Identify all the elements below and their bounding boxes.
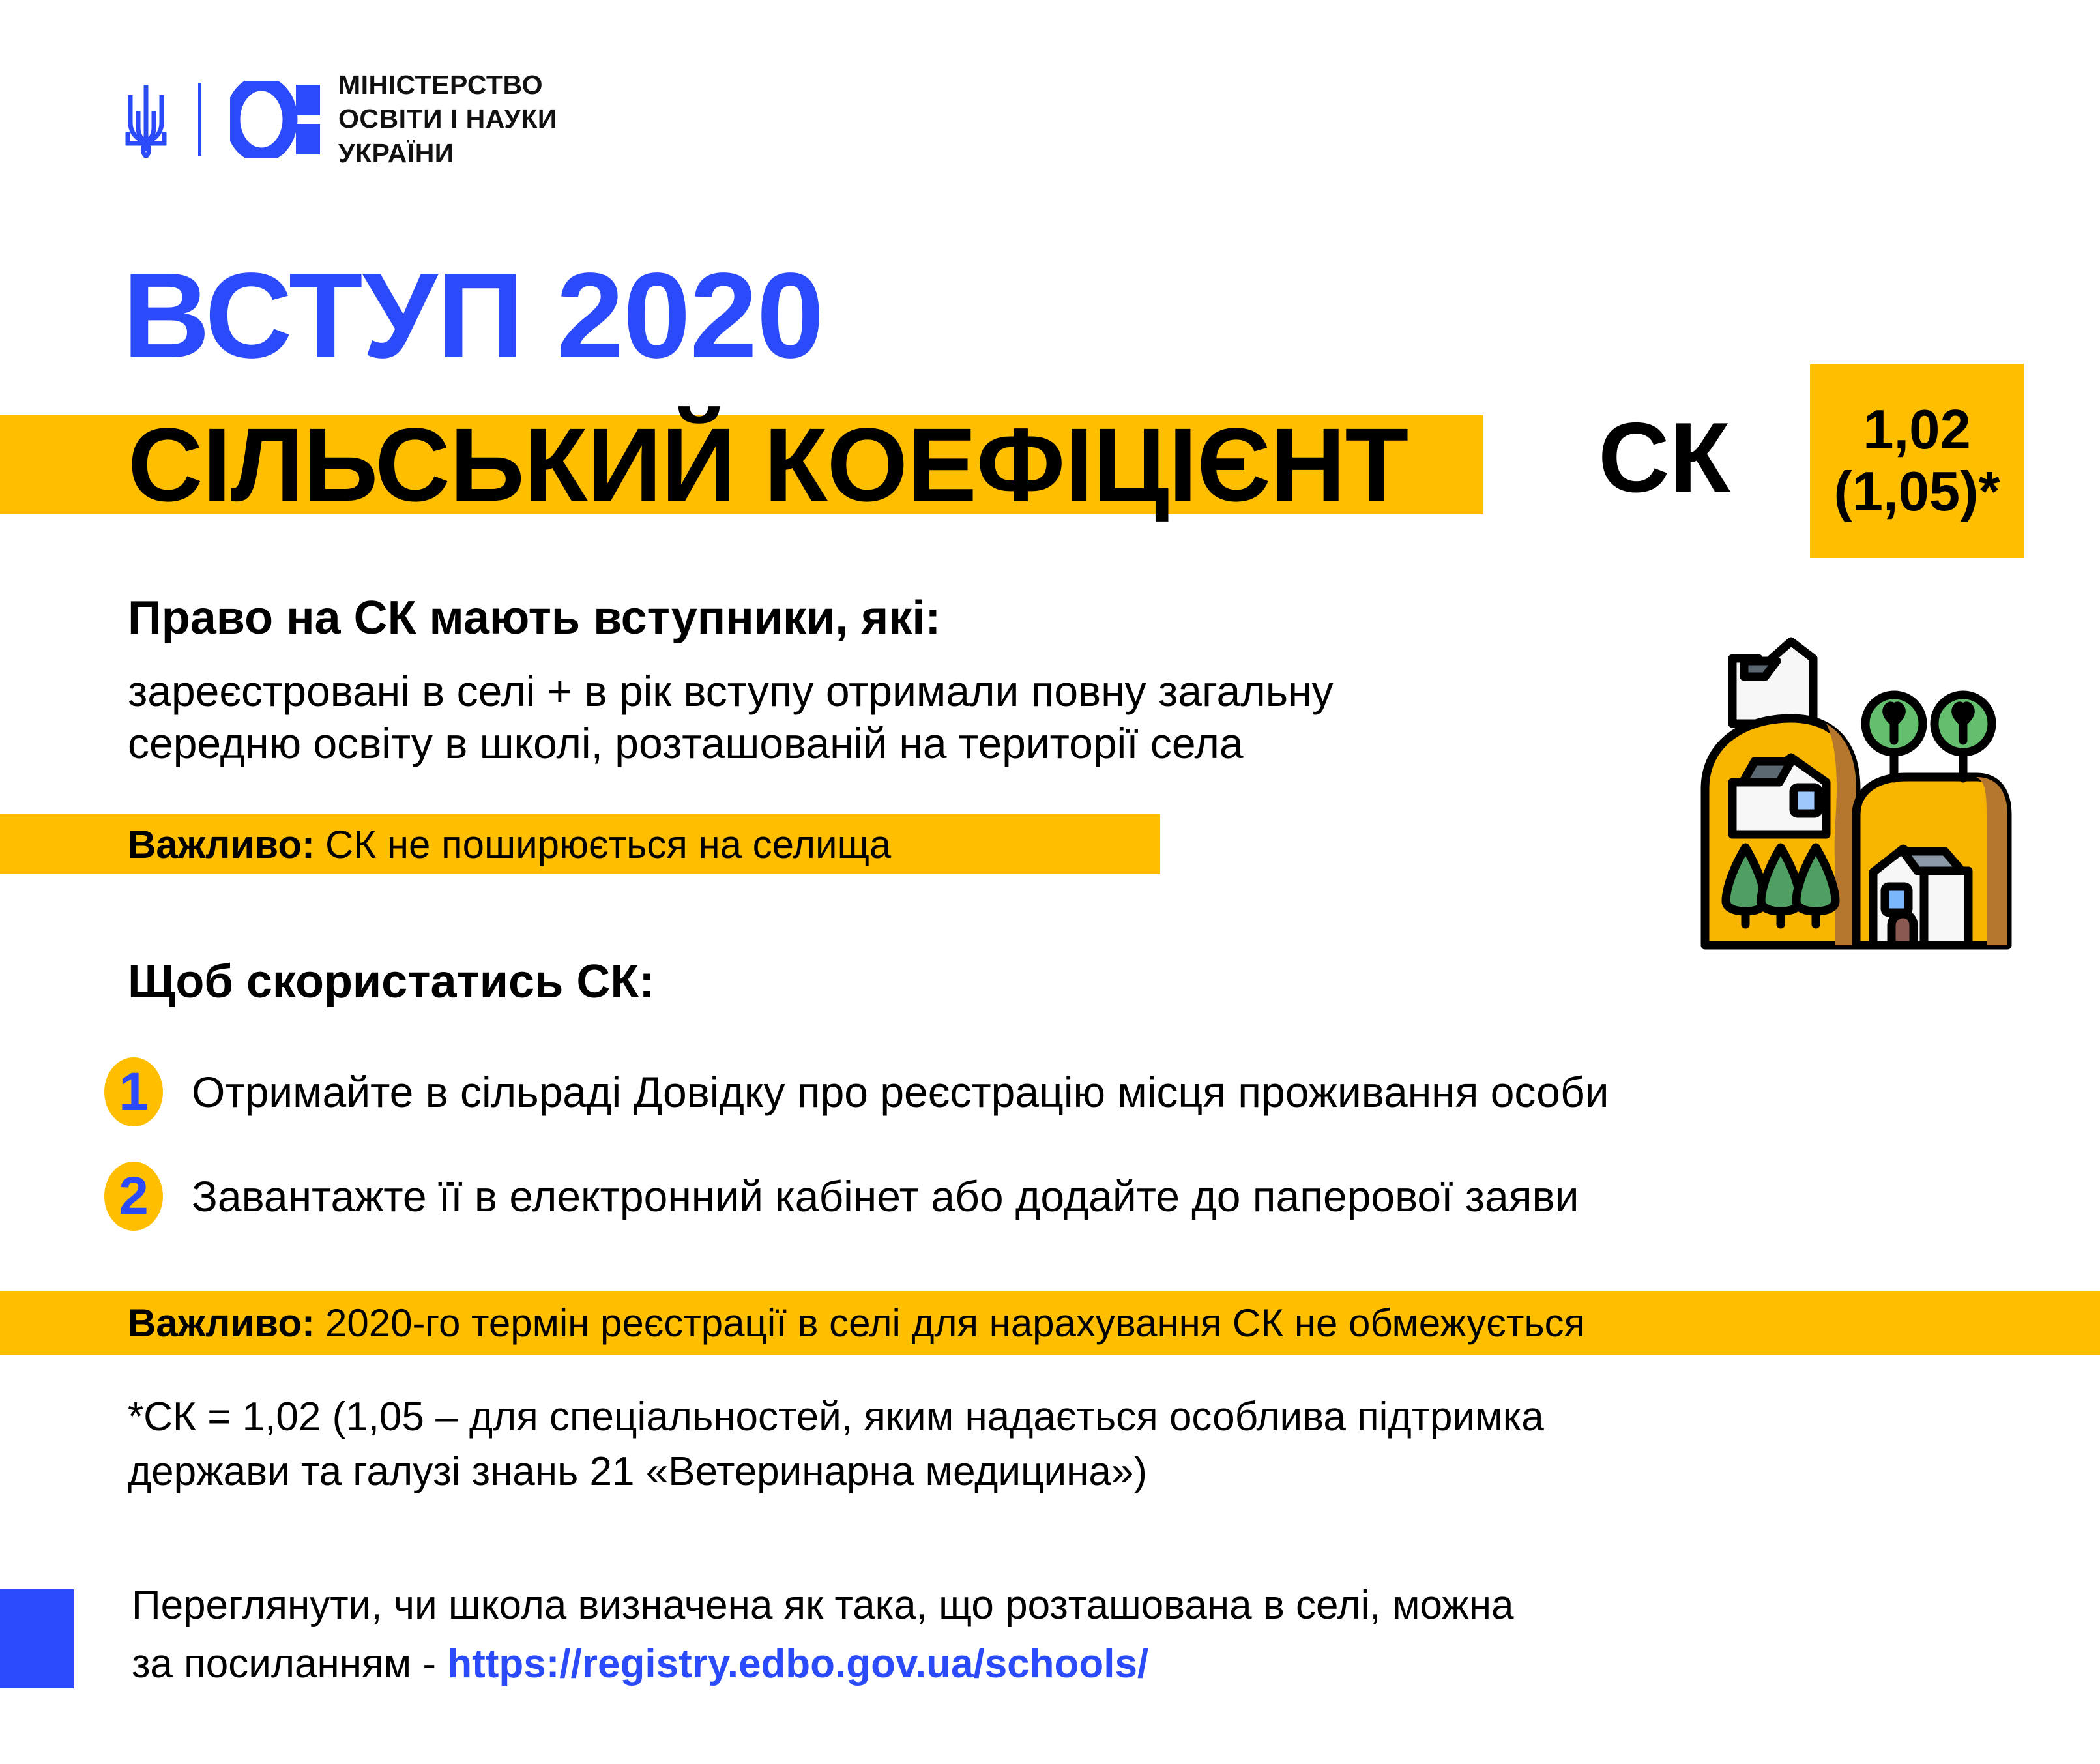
footnote-line-1: *СК = 1,02 (1,05 – для спеціальностей, я… xyxy=(128,1390,1953,1445)
ministry-logo: МІНІСТЕРСТВО ОСВІТИ І НАУКИ УКРАЇНИ xyxy=(123,72,579,166)
ministry-name-line-3: УКРАЇНИ xyxy=(338,136,557,170)
coefficient-abbreviation: СК xyxy=(1598,400,1730,515)
step-text-1: Отримайте в сільраді Довідку про реєстра… xyxy=(192,1070,1609,1113)
page-kicker: ВСТУП 2020 xyxy=(123,256,823,377)
back-house-roof xyxy=(1744,661,1777,677)
ministry-name-line-2: ОСВІТИ І НАУКИ xyxy=(338,102,557,136)
right-house-annex xyxy=(1924,871,1968,945)
logo-divider xyxy=(198,83,201,156)
coefficient-value-primary: 1,02 xyxy=(1863,399,1970,461)
important-label-2: Важливо: xyxy=(128,1301,315,1345)
eligibility-body-line-2: середню освіту в школі, розташованій на … xyxy=(128,717,1620,769)
eligibility-body: зареєстровані в селі + в рік вступу отри… xyxy=(128,665,1620,769)
link-block-line-2: за посиланням - https://registry.edbo.go… xyxy=(132,1635,1957,1694)
coefficient-value-secondary: (1,05)* xyxy=(1833,461,2000,523)
village-houses-trees-illustration xyxy=(1682,619,2047,958)
ministry-name-line-1: МІНІСТЕРСТВО xyxy=(338,68,557,102)
step-number-badge-1: 1 xyxy=(104,1057,163,1126)
link-block-marker xyxy=(0,1589,74,1688)
registry-url-link[interactable]: https://registry.edbo.gov.ua/schools/ xyxy=(447,1641,1148,1686)
right-house-window xyxy=(1885,887,1908,913)
footnote-line-2: держави та галузі знань 21 «Ветеринарна … xyxy=(128,1445,1953,1499)
ukraine-trident-icon xyxy=(123,81,169,158)
important-text-1: СК не поширюється на селища xyxy=(325,822,891,867)
coefficient-value-box: 1,02 (1,05)* xyxy=(1810,364,2024,558)
important-banner-1: Важливо: СК не поширюється на селища xyxy=(128,814,891,874)
step-item-1: 1 Отримайте в сільраді Довідку про реєст… xyxy=(104,1057,1609,1126)
mon-o-mark-icon xyxy=(230,81,321,158)
left-house-roof xyxy=(1743,761,1791,782)
step-item-2: 2 Завантажте її в електронний кабінет аб… xyxy=(104,1162,1579,1231)
steps-heading: Щоб скористатись СК: xyxy=(128,958,654,1005)
step-number-badge-2: 2 xyxy=(104,1162,163,1231)
ministry-name: МІНІСТЕРСТВО ОСВІТИ І НАУКИ УКРАЇНИ xyxy=(338,68,557,170)
footnote: *СК = 1,02 (1,05 – для спеціальностей, я… xyxy=(128,1390,1953,1499)
step-text-2: Завантажте її в електронний кабінет або … xyxy=(192,1175,1579,1218)
link-block-prefix: за посиланням - xyxy=(132,1641,447,1686)
right-house-roof xyxy=(1903,851,1962,871)
important-text-2: 2020-го термін реєстрації в селі для нар… xyxy=(325,1301,1585,1345)
link-block: Переглянути, чи школа визначена як така,… xyxy=(132,1576,1957,1694)
left-house-window xyxy=(1794,787,1818,814)
important-banner-2: Важливо: 2020-го термін реєстрації в сел… xyxy=(128,1291,1585,1355)
right-house-door xyxy=(1891,914,1914,945)
link-block-line-1: Переглянути, чи школа визначена як така,… xyxy=(132,1576,1957,1635)
back-house-body xyxy=(1732,641,1813,724)
eligibility-body-line-1: зареєстровані в селі + в рік вступу отри… xyxy=(128,665,1620,717)
page-title: СІЛЬСЬКИЙ КОЕФІЦІЄНТ xyxy=(128,407,1408,522)
eligibility-heading: Право на СК мають вступники, які: xyxy=(128,595,941,641)
important-label-1: Важливо: xyxy=(128,822,315,867)
